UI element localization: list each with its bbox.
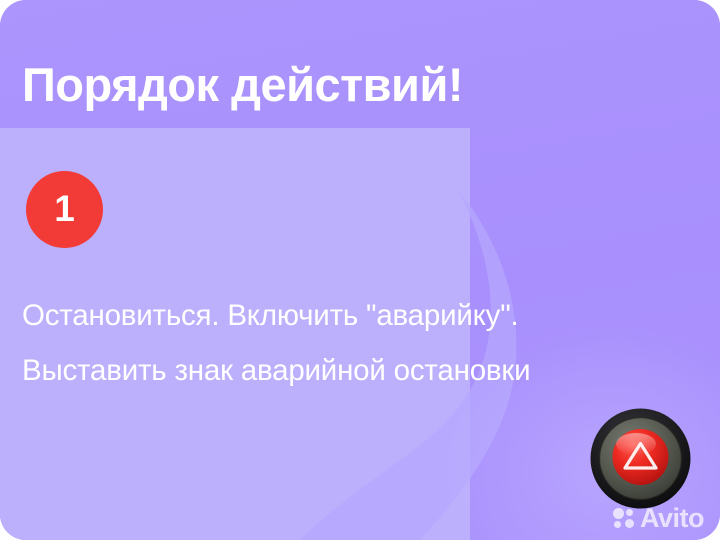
avito-dots-logo <box>613 508 635 530</box>
step-number-label: 1 <box>54 190 75 227</box>
promo-card: Порядок действий! 1 Остановиться. Включи… <box>0 0 720 540</box>
page-title: Порядок действий! <box>22 60 463 109</box>
step-number-badge: 1 <box>26 171 103 248</box>
avito-wordmark: Avito <box>640 505 704 532</box>
instruction-line-1: Остановиться. Включить "аварийку". <box>22 288 682 343</box>
instruction-line-2: Выставить знак аварийной остановки <box>22 343 682 398</box>
step-instructions: Остановиться. Включить "аварийку". Выста… <box>22 288 682 398</box>
hazard-warning-button-image <box>588 406 693 511</box>
avito-watermark: Avito <box>613 505 704 532</box>
